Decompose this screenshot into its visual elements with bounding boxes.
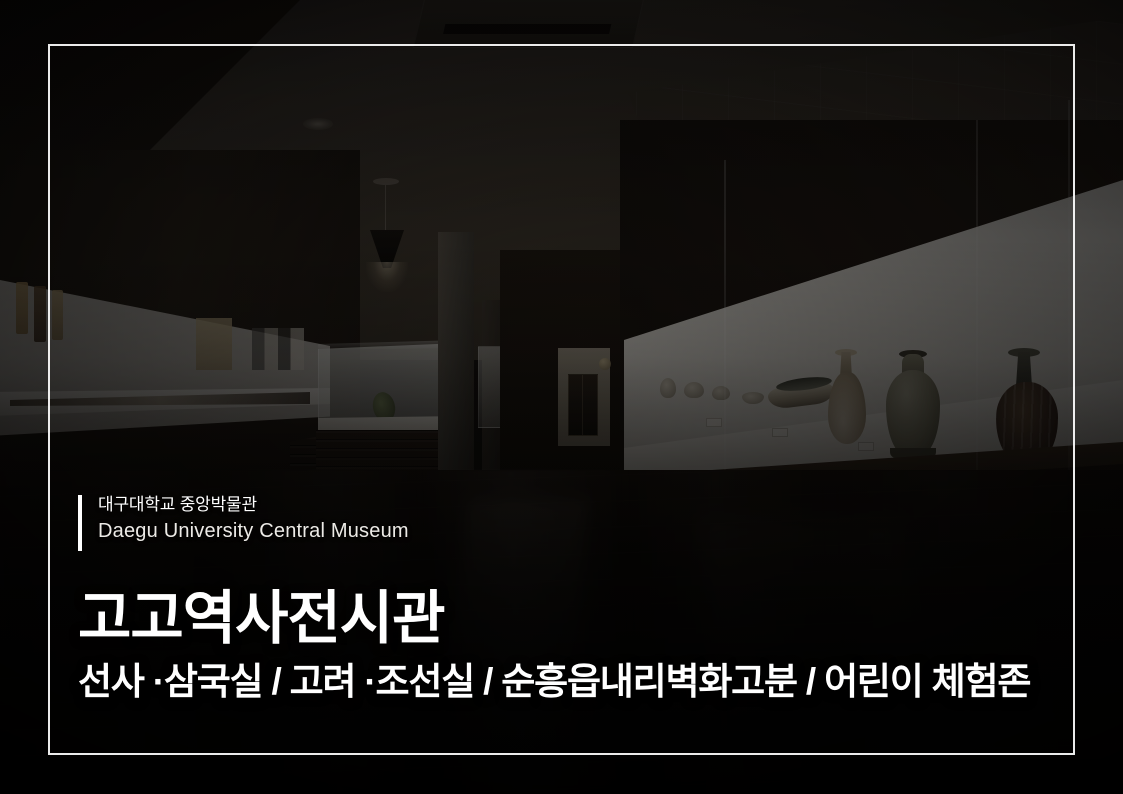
banner-text-block: 대구대학교 중앙박물관 Daegu University Central Mus…	[78, 492, 1038, 705]
museum-name-group: 대구대학교 중앙박물관 Daegu University Central Mus…	[78, 492, 1038, 545]
museum-name-english: Daegu University Central Museum	[98, 517, 1038, 545]
museum-name-korean: 대구대학교 중앙박물관	[98, 492, 1038, 517]
exhibition-hall-list: 선사 ·삼국실 / 고려 ·조선실 / 순흥읍내리벽화고분 / 어린이 체험존	[78, 659, 1038, 705]
page-title: 고고역사전시관	[78, 587, 1038, 651]
museum-hero-banner: 대구대학교 중앙박물관 Daegu University Central Mus…	[0, 0, 1123, 794]
